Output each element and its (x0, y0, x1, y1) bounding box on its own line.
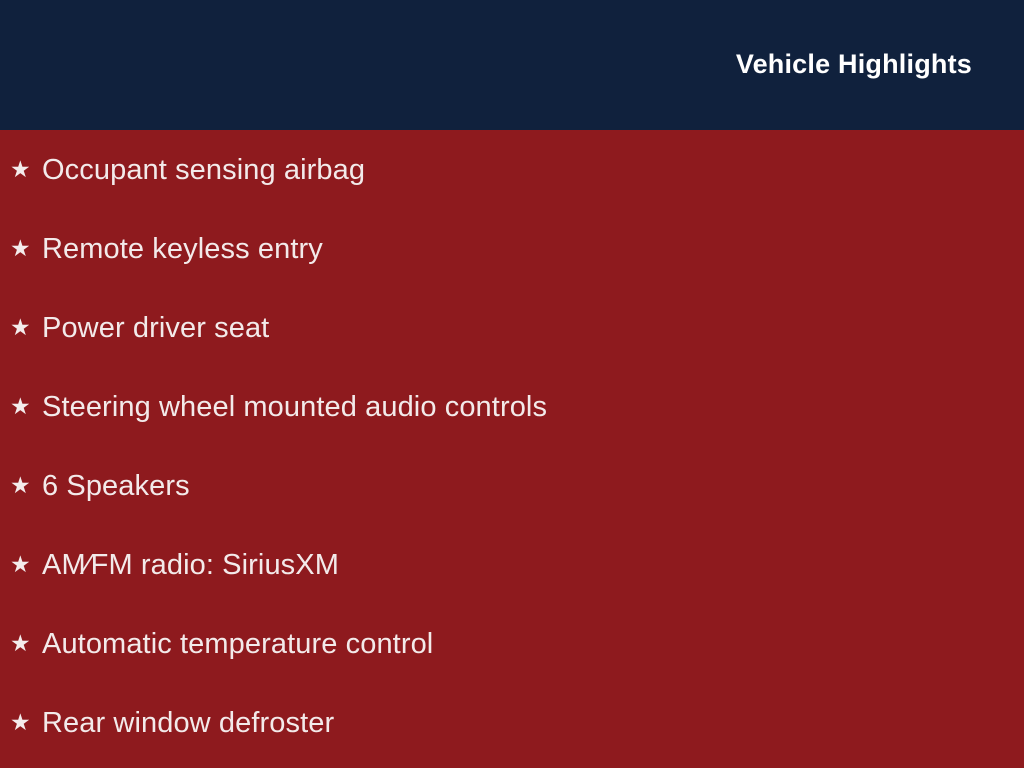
list-item-label: 6 Speakers (42, 472, 190, 501)
list-item-label: Occupant sensing airbag (42, 156, 365, 185)
page-title: Vehicle Highlights (736, 46, 972, 82)
list-item: ★ AM⁄FM radio: SiriusXM (10, 551, 339, 580)
star-bullet-icon: ★ (10, 474, 42, 497)
list-item-label: Rear window defroster (42, 709, 334, 738)
star-bullet-icon: ★ (10, 316, 42, 339)
star-bullet-icon: ★ (10, 237, 42, 260)
list-item: ★ Automatic temperature control (10, 630, 433, 659)
star-bullet-icon: ★ (10, 711, 42, 734)
star-bullet-icon: ★ (10, 158, 42, 181)
star-bullet-icon: ★ (10, 553, 42, 576)
list-item: ★ Steering wheel mounted audio controls (10, 393, 547, 422)
list-item: ★ Occupant sensing airbag (10, 156, 365, 185)
list-item-label: Steering wheel mounted audio controls (42, 393, 547, 422)
list-item: ★ Rear window defroster (10, 709, 334, 738)
slide-canvas: Vehicle Highlights ★ Occupant sensing ai… (0, 0, 1024, 768)
list-item-label: Power driver seat (42, 314, 269, 343)
star-bullet-icon: ★ (10, 395, 42, 418)
slide-header-band: Vehicle Highlights (0, 0, 1024, 130)
list-item: ★ 6 Speakers (10, 472, 190, 501)
list-item: ★ Remote keyless entry (10, 235, 323, 264)
star-bullet-icon: ★ (10, 632, 42, 655)
list-item-label: AM⁄FM radio: SiriusXM (42, 551, 339, 580)
vehicle-highlights-list: ★ Occupant sensing airbag ★ Remote keyle… (0, 130, 1024, 768)
list-item-label: Automatic temperature control (42, 630, 433, 659)
list-item: ★ Power driver seat (10, 314, 269, 343)
list-item-label: Remote keyless entry (42, 235, 323, 264)
